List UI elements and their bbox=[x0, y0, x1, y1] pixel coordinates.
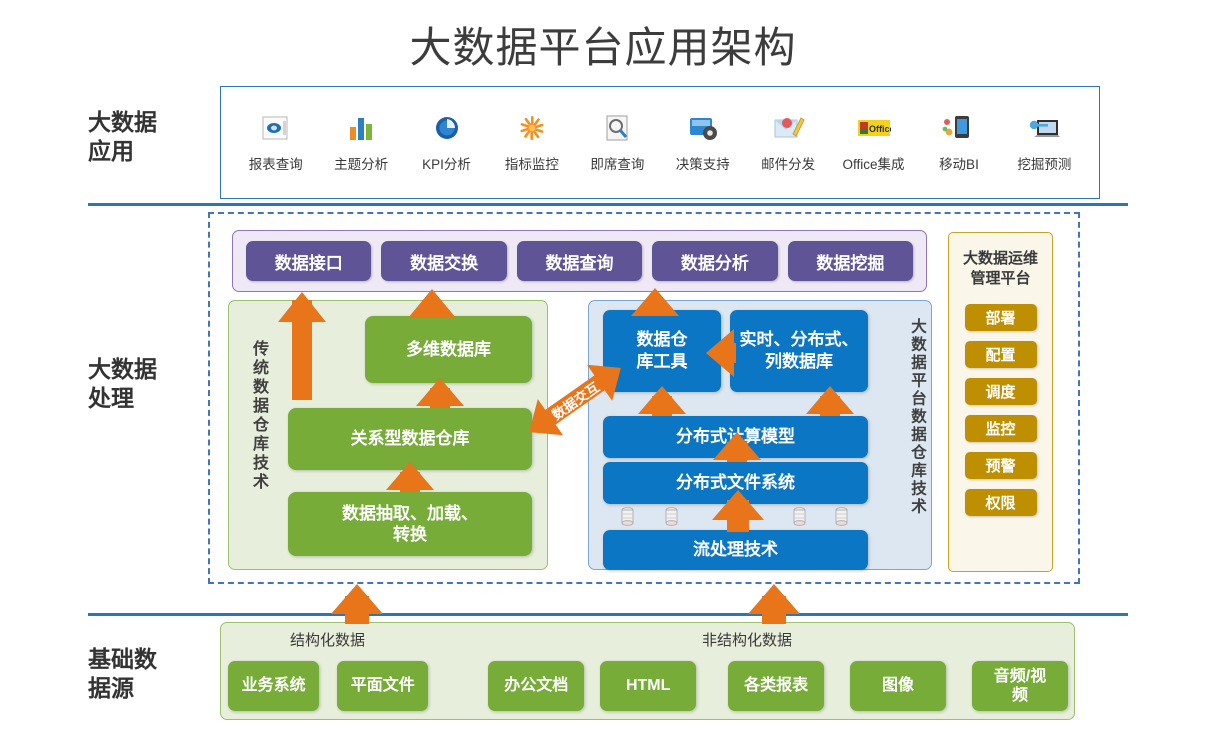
application-item-7[interactable]: 邮件分发 bbox=[745, 112, 830, 173]
arrow-source-to-traditional bbox=[345, 596, 369, 624]
box-etl-line1: 数据抽取、加载、 bbox=[342, 503, 478, 524]
service-chip-5[interactable]: 数据挖掘 bbox=[788, 241, 913, 281]
ops-panel-title-line2: 管理平台 bbox=[963, 269, 1038, 289]
bigdata-dw-vertical-label: 大数据平台数据仓库技术 bbox=[897, 318, 925, 516]
row-label-application-line1: 大数据 bbox=[88, 108, 208, 137]
application-label: 移动BI bbox=[939, 153, 979, 173]
ops-management-panel: 大数据运维 管理平台 部署配置调度监控预警权限 bbox=[948, 232, 1053, 572]
source-chip-5[interactable]: 各类报表 bbox=[728, 661, 824, 711]
arrow-source-to-bigdata-head bbox=[748, 584, 800, 614]
box-dw-tool-line2: 库工具 bbox=[637, 351, 688, 373]
unstructured-data-heading: 非结构化数据 bbox=[702, 629, 792, 650]
service-chip-4[interactable]: 数据分析 bbox=[652, 241, 777, 281]
pie-gauge-icon bbox=[430, 112, 464, 144]
application-label: 主题分析 bbox=[334, 153, 388, 173]
box-realtime-line1: 实时、分布式、 bbox=[740, 329, 859, 351]
report-document-icon bbox=[259, 112, 293, 144]
database-cylinder-row bbox=[603, 507, 868, 529]
application-item-8[interactable]: OfficeOffice集成 bbox=[831, 112, 916, 173]
ops-panel-title: 大数据运维 管理平台 bbox=[963, 249, 1038, 290]
application-label: 邮件分发 bbox=[761, 153, 815, 173]
source-chip-line1: 音频/视 bbox=[994, 667, 1046, 686]
box-multidimensional-db[interactable]: 多维数据库 bbox=[365, 316, 532, 383]
page-title: 大数据平台应用架构 bbox=[0, 14, 1206, 75]
database-cylinder-icon bbox=[665, 507, 678, 527]
box-stream-processing[interactable]: 流处理技术 bbox=[603, 530, 868, 570]
screen-gear-icon bbox=[686, 112, 720, 144]
service-bar: 数据接口数据交换数据查询数据分析数据挖掘 bbox=[232, 230, 927, 292]
row-label-application: 大数据 应用 bbox=[88, 108, 208, 166]
box-etl-line2: 转换 bbox=[342, 524, 478, 545]
box-dw-tool[interactable]: 数据仓 库工具 bbox=[603, 310, 721, 392]
source-chip-2[interactable]: 平面文件 bbox=[337, 661, 428, 711]
office-logo-icon: Office bbox=[857, 112, 891, 144]
row-label-source-line1: 基础数 bbox=[88, 645, 218, 674]
source-chip-3[interactable]: 办公文档 bbox=[488, 661, 584, 711]
row-label-processing-line2: 处理 bbox=[88, 384, 208, 413]
ops-chip-4[interactable]: 监控 bbox=[965, 415, 1037, 442]
row-label-source-line2: 据源 bbox=[88, 674, 218, 703]
data-source-chip-row: 业务系统平面文件办公文档HTML各类报表图像音频/视频 bbox=[228, 660, 1068, 712]
divider-application-processing bbox=[88, 203, 1128, 206]
box-distributed-compute-model[interactable]: 分布式计算模型 bbox=[603, 416, 868, 458]
bar-chart-icon bbox=[344, 112, 378, 144]
source-chip-7[interactable]: 音频/视频 bbox=[972, 661, 1068, 711]
application-item-3[interactable]: KPI分析 bbox=[404, 112, 489, 173]
source-chip-4[interactable]: HTML bbox=[600, 661, 696, 711]
application-item-9[interactable]: 移动BI bbox=[916, 112, 1001, 173]
application-item-10[interactable]: 挖掘预测 bbox=[1002, 112, 1087, 173]
box-dw-tool-line1: 数据仓 bbox=[637, 329, 688, 351]
service-chip-1[interactable]: 数据接口 bbox=[246, 241, 371, 281]
application-item-6[interactable]: 决策支持 bbox=[660, 112, 745, 173]
application-item-4[interactable]: 指标监控 bbox=[489, 112, 574, 173]
application-band: 报表查询主题分析KPI分析指标监控即席查询决策支持邮件分发OfficeOffic… bbox=[220, 86, 1100, 199]
mail-pencil-icon bbox=[771, 112, 805, 144]
arrow-source-to-traditional-head bbox=[331, 584, 383, 614]
ops-chip-6[interactable]: 权限 bbox=[965, 489, 1037, 516]
application-item-1[interactable]: 报表查询 bbox=[233, 112, 318, 173]
ops-chip-3[interactable]: 调度 bbox=[965, 378, 1037, 405]
laptop-key-icon bbox=[1027, 112, 1061, 144]
application-icon-row: 报表查询主题分析KPI分析指标监控即席查询决策支持邮件分发OfficeOffic… bbox=[221, 87, 1099, 198]
application-label: KPI分析 bbox=[422, 153, 471, 173]
row-label-application-line2: 应用 bbox=[88, 137, 208, 166]
database-cylinder-icon bbox=[793, 507, 806, 527]
arrow-source-to-bigdata bbox=[762, 596, 786, 624]
traditional-dw-vertical-label: 传统数据仓库技术 bbox=[238, 340, 266, 492]
database-cylinder-icon bbox=[621, 507, 634, 527]
row-label-source: 基础数 据源 bbox=[88, 645, 218, 703]
service-chip-2[interactable]: 数据交换 bbox=[381, 241, 506, 281]
application-label: 挖掘预测 bbox=[1017, 153, 1071, 173]
ops-chip-2[interactable]: 配置 bbox=[965, 341, 1037, 368]
box-distributed-file-system[interactable]: 分布式文件系统 bbox=[603, 462, 868, 504]
application-item-5[interactable]: 即席查询 bbox=[575, 112, 660, 173]
ops-panel-title-line1: 大数据运维 bbox=[963, 249, 1038, 269]
ops-chip-5[interactable]: 预警 bbox=[965, 452, 1037, 479]
mobile-device-icon bbox=[942, 112, 976, 144]
application-label: Office集成 bbox=[843, 153, 905, 173]
database-cylinder-icon bbox=[835, 507, 848, 527]
box-etl[interactable]: 数据抽取、加载、 转换 bbox=[288, 492, 532, 556]
svg-text:Office: Office bbox=[869, 124, 891, 134]
application-label: 指标监控 bbox=[505, 153, 559, 173]
ops-chip-1[interactable]: 部署 bbox=[965, 304, 1037, 331]
document-search-icon bbox=[600, 112, 634, 144]
divider-processing-source bbox=[88, 613, 1128, 616]
application-label: 决策支持 bbox=[676, 153, 730, 173]
box-relational-dw[interactable]: 关系型数据仓库 bbox=[288, 408, 532, 470]
source-chip-6[interactable]: 图像 bbox=[850, 661, 946, 711]
application-item-2[interactable]: 主题分析 bbox=[318, 112, 403, 173]
row-label-processing-line1: 大数据 bbox=[88, 355, 208, 384]
box-realtime-columnar-db[interactable]: 实时、分布式、 列数据库 bbox=[730, 310, 868, 392]
row-label-processing: 大数据 处理 bbox=[88, 355, 208, 413]
application-label: 报表查询 bbox=[249, 153, 303, 173]
service-chip-3[interactable]: 数据查询 bbox=[517, 241, 642, 281]
structured-data-heading: 结构化数据 bbox=[290, 629, 365, 650]
source-chip-line2: 频 bbox=[994, 686, 1046, 705]
box-realtime-line2: 列数据库 bbox=[740, 351, 859, 373]
application-label: 即席查询 bbox=[590, 153, 644, 173]
source-chip-1[interactable]: 业务系统 bbox=[228, 661, 319, 711]
starburst-icon bbox=[515, 112, 549, 144]
